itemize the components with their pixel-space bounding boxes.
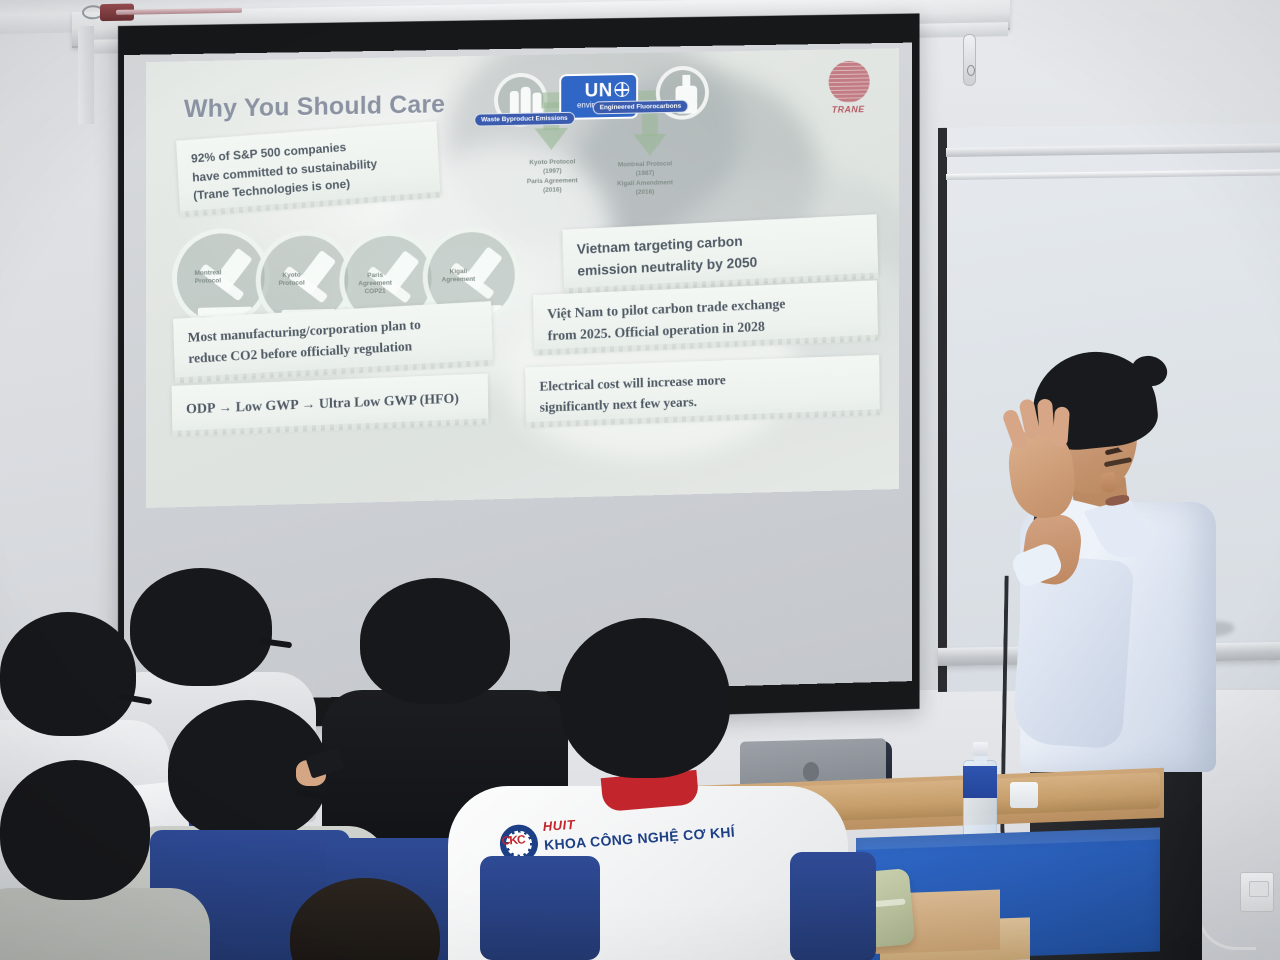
note-sp500: 92% of S&P 500 companies have committed … xyxy=(176,121,440,214)
note-electrical-text: Electrical cost will increase more signi… xyxy=(539,365,870,418)
gavel-label: Kyoto Protocol xyxy=(266,271,318,288)
gavel-label: Montreal Protocol xyxy=(182,269,234,286)
note-vietnam-text: Vietnam targeting carbon emission neutra… xyxy=(576,225,868,282)
audience-chair[interactable] xyxy=(480,856,600,960)
down-arrow-icon xyxy=(535,128,569,151)
audience-chair[interactable] xyxy=(790,852,876,960)
ckc-mark: CKC xyxy=(501,832,536,848)
presenter-eye xyxy=(1104,457,1132,467)
bottle-label xyxy=(963,766,997,798)
screen-housing-endcap xyxy=(78,26,94,124)
presenter-nose xyxy=(1099,472,1117,493)
left-protocol-caption: Kyoto Protocol (1997) Paris Agreement (2… xyxy=(508,157,597,196)
right-protocol-caption: Montreal Protocol (1987) Kigali Amendmen… xyxy=(601,159,690,198)
pointer-stick-on-housing xyxy=(82,0,252,24)
desk-small-item xyxy=(1010,782,1038,808)
note-electrical-cost: Electrical cost will increase more signi… xyxy=(525,355,879,425)
note-manufacturing-text: Most manufacturing/corporation plan to r… xyxy=(187,312,482,370)
trane-ball-icon xyxy=(829,61,870,103)
note-odp-text: ODP → Low GWP → Ultra Low GWP (HFO) xyxy=(186,388,479,421)
waste-byproduct-label: Waste Byproduct Emissions xyxy=(474,112,574,127)
trane-logo: TRANE xyxy=(821,60,876,118)
globe-icon xyxy=(614,82,629,97)
presentation-slide: Why You Should Care UN environment Waste… xyxy=(146,48,899,508)
note-odp-gwp: ODP → Low GWP → Ultra Low GWP (HFO) xyxy=(172,374,489,434)
engineered-fluorocarbons-label: Engineered Fluorocarbons xyxy=(593,100,688,115)
trane-wordmark: TRANE xyxy=(821,104,876,115)
down-arrow-icon xyxy=(633,134,666,156)
gavel-label: Paris Agreement COP21 xyxy=(349,271,401,296)
note-pilot-text: Việt Nam to pilot carbon trade exchange … xyxy=(547,291,868,348)
room-scene: Why You Should Care UN environment Waste… xyxy=(0,0,1280,960)
slide-title: Why You Should Care xyxy=(184,90,445,124)
huit-org-label: HUIT xyxy=(542,817,575,834)
screen-pull-handle[interactable] xyxy=(963,34,976,86)
pointer-shaft xyxy=(116,8,242,15)
note-sp500-text: 92% of S&P 500 companies have committed … xyxy=(191,132,430,205)
bottle-cap xyxy=(973,742,988,756)
gavel-label: Kigali Agreement xyxy=(433,268,484,285)
un-logo-text: UN xyxy=(585,82,613,101)
